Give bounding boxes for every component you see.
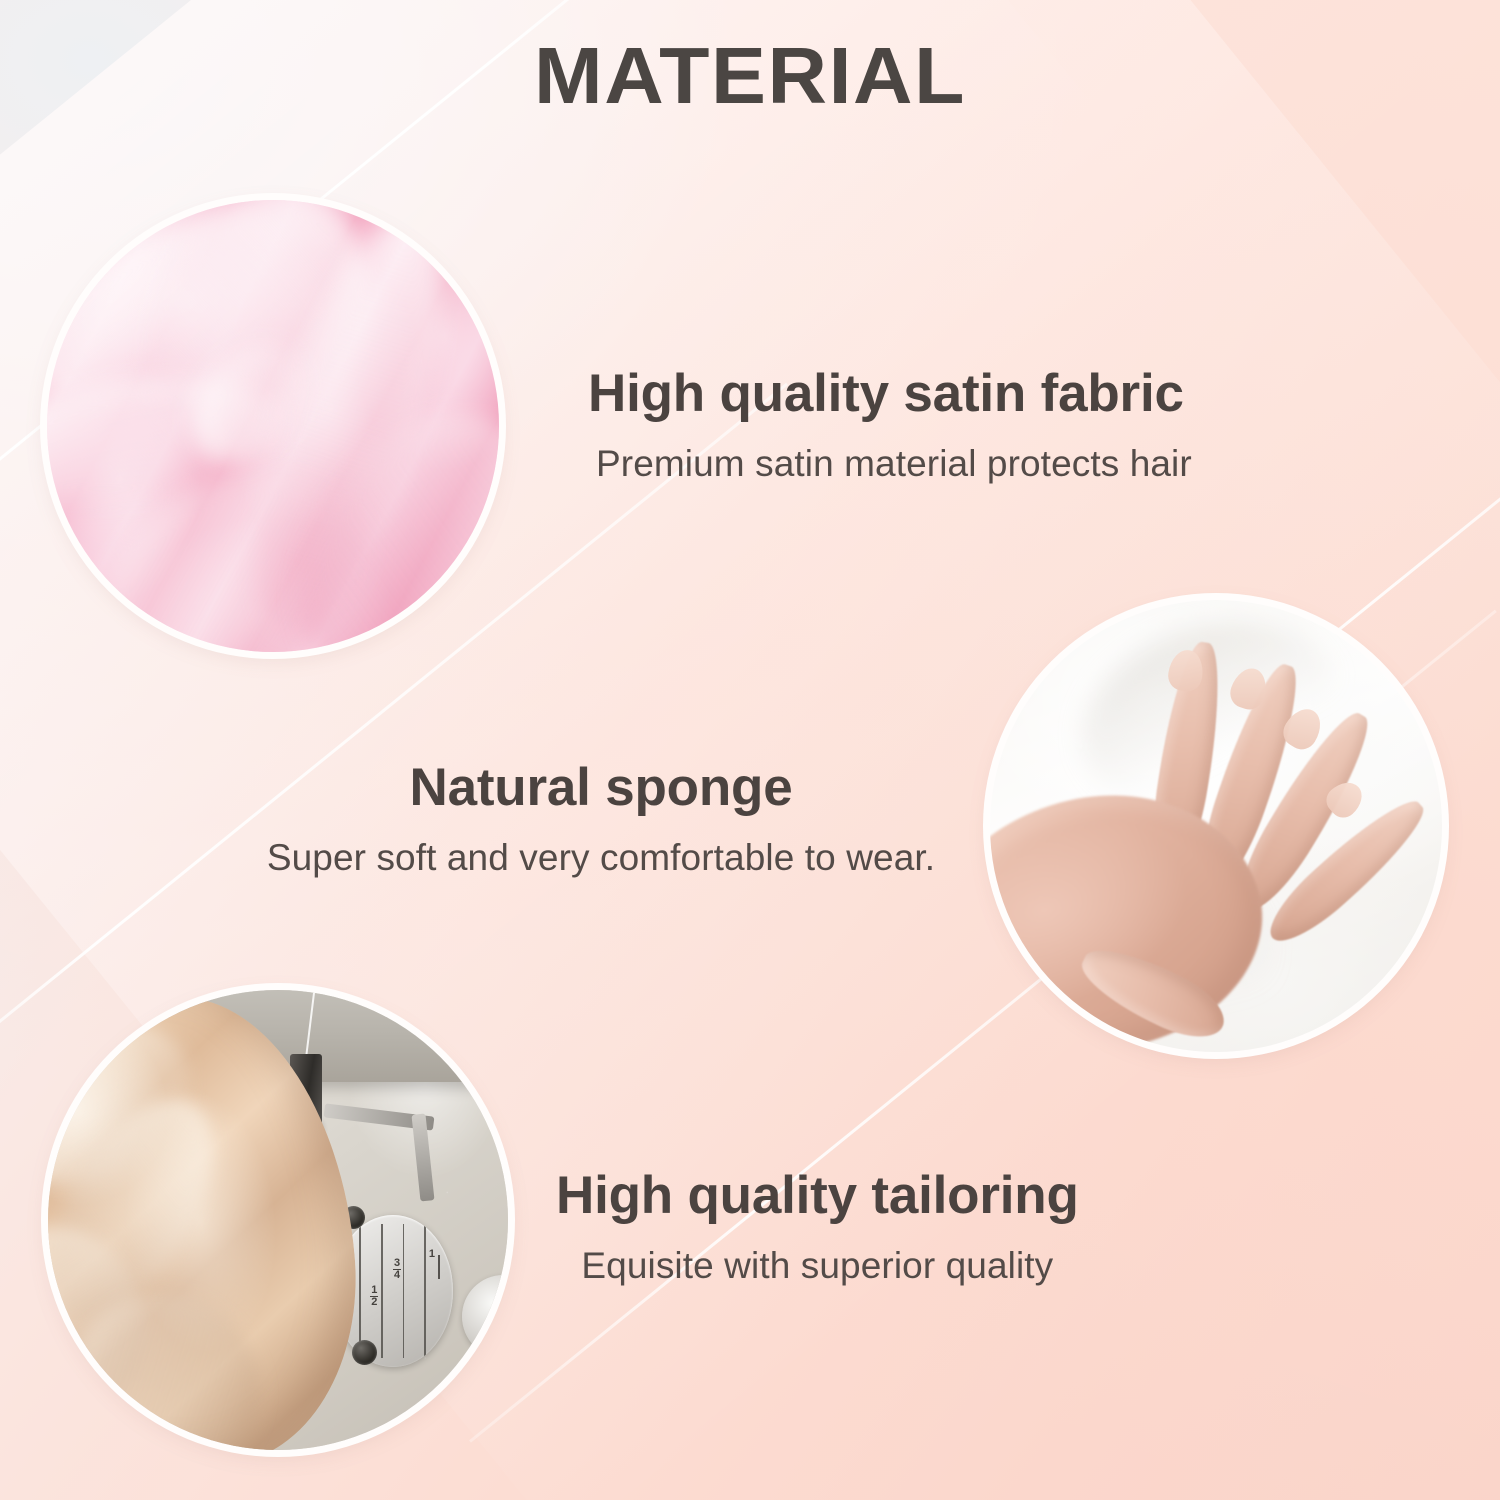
feature-heading-satin-fabric: High quality satin fabric bbox=[588, 366, 1192, 422]
needle-plate-mark-half: 12 bbox=[370, 1285, 378, 1308]
seam-guide-line bbox=[381, 1224, 383, 1358]
feature-text-satin-fabric: High quality satin fabric Premium satin … bbox=[588, 366, 1192, 485]
feature-text-natural-sponge: Natural sponge Super soft and very comfo… bbox=[246, 760, 956, 879]
needle-plate-mark-three-quarter: 34 bbox=[393, 1258, 401, 1281]
feature-subtitle-natural-sponge: Super soft and very comfortable to wear. bbox=[246, 838, 956, 879]
plate-screw bbox=[352, 1340, 377, 1365]
seam-guide-tick bbox=[438, 1255, 440, 1279]
feature-heading-tailoring: High quality tailoring bbox=[556, 1168, 1079, 1224]
infographic-canvas: MATERIAL bbox=[0, 0, 1500, 1500]
hand bbox=[990, 600, 1442, 1052]
feature-image-satin-fabric bbox=[47, 200, 499, 652]
sponge-photo bbox=[990, 600, 1442, 1052]
sewing-machine-photo: 14 12 34 1 bbox=[48, 990, 508, 1450]
seam-guide-line bbox=[359, 1224, 361, 1358]
feature-image-tailoring: 14 12 34 1 bbox=[48, 990, 508, 1450]
feature-heading-natural-sponge: Natural sponge bbox=[246, 760, 956, 816]
seam-guide-line bbox=[424, 1224, 426, 1358]
feature-text-tailoring: High quality tailoring Equisite with sup… bbox=[556, 1168, 1079, 1287]
feature-subtitle-tailoring: Equisite with superior quality bbox=[556, 1246, 1079, 1287]
needle-plate-mark-one: 1 bbox=[429, 1249, 435, 1260]
seam-guide-line bbox=[403, 1224, 405, 1358]
feature-subtitle-satin-fabric: Premium satin material protects hair bbox=[596, 444, 1192, 485]
page-title: MATERIAL bbox=[0, 30, 1500, 122]
feature-image-natural-sponge bbox=[990, 600, 1442, 1052]
pink-satin-photo bbox=[47, 200, 499, 652]
